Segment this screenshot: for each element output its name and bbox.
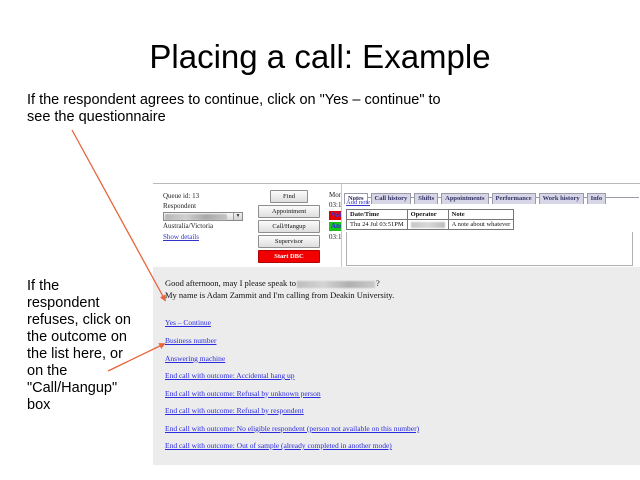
- redacted-respondent-name: [297, 281, 375, 288]
- tab-call-history[interactable]: Call history: [371, 193, 412, 204]
- start-dbc-button[interactable]: Start DBC: [258, 250, 320, 263]
- timezone-label: Australia/Victoria: [163, 222, 255, 232]
- tab-appointments[interactable]: Appointments: [441, 193, 488, 204]
- notes-panel: Notes Call history Shifts Appointments P…: [341, 184, 640, 268]
- find-button[interactable]: Find: [270, 190, 308, 203]
- link-no-eligible-respondent[interactable]: End call with outcome: No eligible respo…: [165, 424, 585, 433]
- script-line1-before: Good afternoon, may I please speak to: [165, 278, 296, 288]
- script-line1-after: ?: [376, 278, 380, 288]
- page-title: Placing a call: Example: [0, 38, 640, 76]
- link-refusal-unknown-person[interactable]: End call with outcome: Refusal by unknow…: [165, 389, 585, 398]
- queue-info-block: Queue id: 13 Respondent ▼ Australia/Vict…: [163, 192, 255, 242]
- add-note-link[interactable]: Add note: [346, 199, 370, 206]
- embedded-app-screenshot: Queue id: 13 Respondent ▼ Australia/Vict…: [153, 183, 640, 465]
- table-row[interactable]: Thu 24 Jul 03:51PM A note about whatever: [347, 220, 514, 230]
- appointment-button[interactable]: Appointment: [258, 205, 320, 218]
- respondent-select[interactable]: ▼: [163, 212, 243, 221]
- show-details-link[interactable]: Show details: [163, 233, 199, 243]
- column-header-datetime: Date/Time: [347, 210, 408, 220]
- arrow-to-script: [72, 130, 165, 300]
- tab-work-history[interactable]: Work history: [539, 193, 584, 204]
- call-script-area: Good afternoon, may I please speak to? M…: [153, 267, 640, 465]
- column-header-operator: Operator: [407, 210, 448, 220]
- queue-id-label: Queue id: 13: [163, 192, 255, 202]
- respondent-label: Respondent: [163, 202, 255, 212]
- script-line2: My name is Adam Zammit and I'm calling f…: [165, 290, 394, 302]
- cell-datetime: Thu 24 Jul 03:51PM: [347, 220, 408, 230]
- call-script-text: Good afternoon, may I please speak to? M…: [165, 278, 394, 301]
- tab-performance[interactable]: Performance: [492, 193, 536, 204]
- outcome-link-list: Yes – Continue Business number Answering…: [165, 318, 585, 459]
- tab-shifts[interactable]: Shifts: [414, 193, 438, 204]
- table-header-row: Date/Time Operator Note: [347, 210, 514, 220]
- notes-body-area: [346, 232, 633, 266]
- call-hangup-button[interactable]: Call/Hangup: [258, 220, 320, 233]
- annotation-top-text: If the respondent agrees to continue, cl…: [27, 92, 457, 126]
- app-toolbar: Queue id: 13 Respondent ▼ Australia/Vict…: [153, 183, 640, 268]
- action-button-stack: Find Appointment Call/Hangup Supervisor …: [258, 190, 324, 265]
- cell-note: A note about whatever: [448, 220, 514, 230]
- respondent-selected-value-redacted: [165, 214, 227, 220]
- tab-info[interactable]: Info: [587, 193, 607, 204]
- column-header-note: Note: [448, 210, 514, 220]
- annotation-left-text: If the respondent refuses, click on the …: [27, 278, 131, 414]
- tab-strip: Notes Call history Shifts Appointments P…: [344, 186, 639, 198]
- supervisor-button[interactable]: Supervisor: [258, 235, 320, 248]
- link-refusal-by-respondent[interactable]: End call with outcome: Refusal by respon…: [165, 406, 585, 415]
- notes-table: Date/Time Operator Note Thu 24 Jul 03:51…: [346, 209, 514, 230]
- link-business-number[interactable]: Business number: [165, 336, 585, 345]
- chevron-down-icon[interactable]: ▼: [233, 213, 242, 220]
- link-accidental-hang-up[interactable]: End call with outcome: Accidental hang u…: [165, 371, 585, 380]
- cell-operator: [407, 220, 448, 230]
- link-yes-continue[interactable]: Yes – Continue: [165, 318, 585, 327]
- link-answering-machine[interactable]: Answering machine: [165, 354, 585, 363]
- redacted-operator: [411, 222, 445, 228]
- link-out-of-sample[interactable]: End call with outcome: Out of sample (al…: [165, 441, 585, 450]
